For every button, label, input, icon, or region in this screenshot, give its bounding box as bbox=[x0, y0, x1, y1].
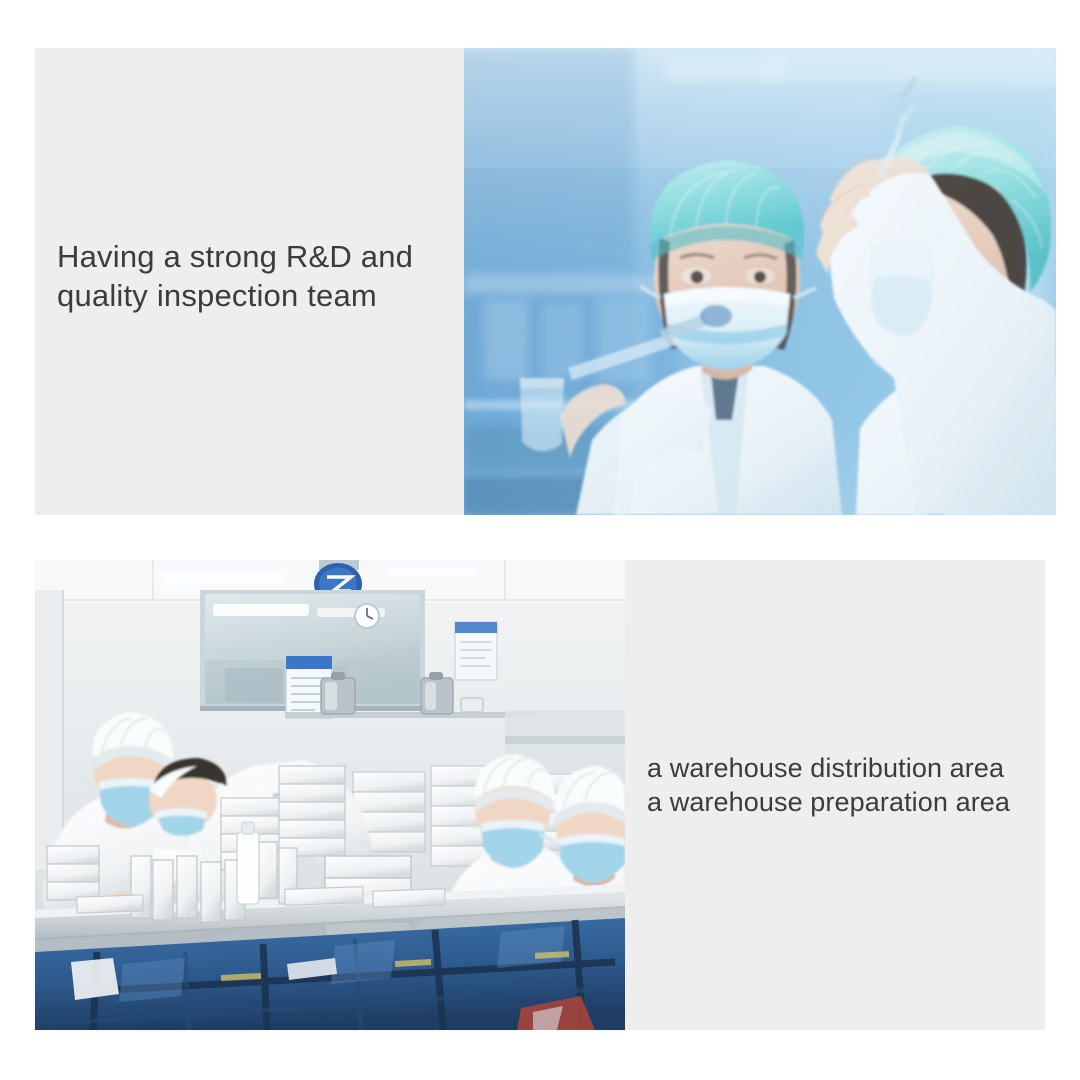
lab-technicians-photo bbox=[464, 48, 1056, 515]
rd-quality-caption-panel: Having a strong R&D and quality inspecti… bbox=[35, 48, 464, 515]
rd-quality-caption-text: Having a strong R&D and quality inspecti… bbox=[57, 237, 457, 316]
warehouse-packing-photo-graphic bbox=[35, 560, 625, 1030]
warehouse-packing-photo bbox=[35, 560, 625, 1030]
lab-technicians-photo-graphic bbox=[464, 48, 1056, 515]
rd-quality-section: Having a strong R&D and quality inspecti… bbox=[35, 48, 1056, 515]
warehouse-caption-text: a warehouse distribution area a warehous… bbox=[647, 751, 1047, 820]
warehouse-section: a warehouse distribution area a warehous… bbox=[35, 560, 1045, 1030]
warehouse-caption-panel: a warehouse distribution area a warehous… bbox=[625, 560, 1045, 1030]
page-root: Having a strong R&D and quality inspecti… bbox=[0, 0, 1080, 1080]
